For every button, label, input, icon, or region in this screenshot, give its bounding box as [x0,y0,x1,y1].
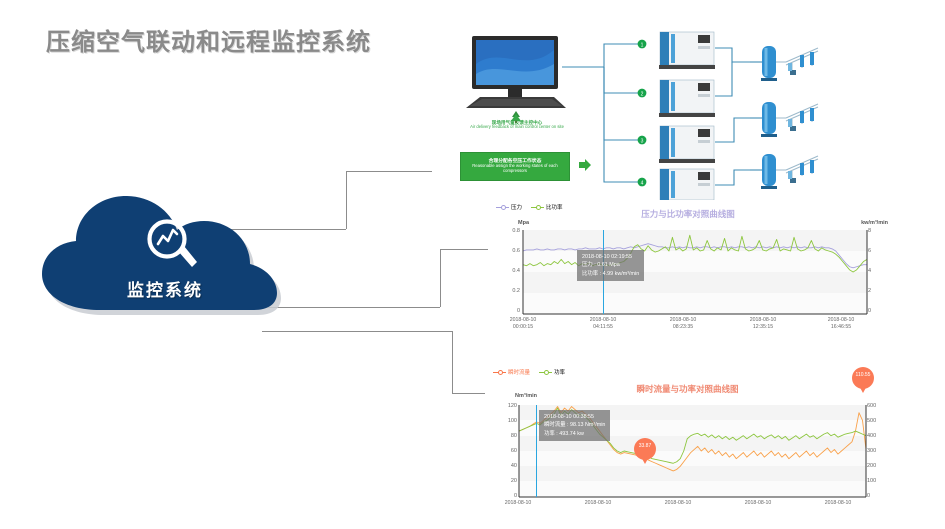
chart2-tooltip-time: 2018-08-10 00:38:55 [544,413,605,421]
chart2-xtick-2: 2018-08-10 [651,500,705,507]
chart2-xtick-3: 2018-08-10 [731,500,785,507]
status-nodes: 1 2 3 4 [638,40,647,187]
max-marker-label: 110.55 [852,367,874,389]
svg-text:3: 3 [641,138,644,144]
chart1-axes [488,200,888,332]
chart1-xtick-3: 2018-08-1012:35:15 [736,317,790,330]
chart1-tooltip-line1: 压力 : 0.61 Mpa [582,261,639,269]
network-lines: 1 2 3 4 [432,22,945,200]
chart1-xtick-0: 2018-08-1000:00:15 [496,317,550,330]
cloud-label: 监控系统 [34,276,296,301]
chart2-tooltip-line1: 瞬时流量 : 98.13 Nm³/min [544,421,605,429]
monitoring-cloud[interactable]: 监控系统 [34,190,296,330]
chart2-xtick-0: 2018-08-10 [491,500,545,507]
chart1-xtick-1: 2018-08-1004:11:55 [576,317,630,330]
chart2-xtick-4: 2018-08-10 [811,500,865,507]
svg-text:2: 2 [641,91,644,97]
chart1-tooltip-time: 2018-08-10 02:19:55 [582,253,639,261]
chart-flow-power[interactable]: 瞬时流量 功率 瞬时流量与功率对照曲线图 Nm³/min 120 100 80 … [485,365,890,529]
magnifier-chart-icon [142,216,202,274]
chart2-tooltip: 2018-08-10 00:38:55 瞬时流量 : 98.13 Nm³/min… [539,410,610,441]
chart1-xtick-4: 2018-08-1016:46:55 [814,317,868,330]
topology-diagram: 现场用气量反馈主控中心 Air delivery feedback of mai… [432,22,945,200]
compressor-units [659,32,715,200]
svg-text:4: 4 [641,180,644,186]
page-title: 压缩空气联动和远程监控系统 [46,22,371,57]
chart2-cursor [536,405,537,497]
chart1-tooltip: 2018-08-10 02:19:55 压力 : 0.61 Mpa 比功率 : … [577,250,644,281]
air-tank-units [761,46,818,189]
chart2-xtick-1: 2018-08-10 [571,500,625,507]
chart1-tooltip-line2: 比功率 : 4.99 kw/m³/min [582,270,639,278]
slide-canvas: 压缩空气联动和远程监控系统 监 [0,0,945,529]
min-marker-label: 33.87 [634,438,656,460]
chart1-xtick-2: 2018-08-1008:23:35 [656,317,710,330]
chart2-tooltip-line2: 功率 : 493.74 kw [544,430,605,438]
chart-pressure-specific-power[interactable]: 压力 比功率 压力与比功率对照曲线图 Mpa kw/m³/min 0.8 0.6… [488,200,888,332]
svg-text:1: 1 [641,42,644,48]
